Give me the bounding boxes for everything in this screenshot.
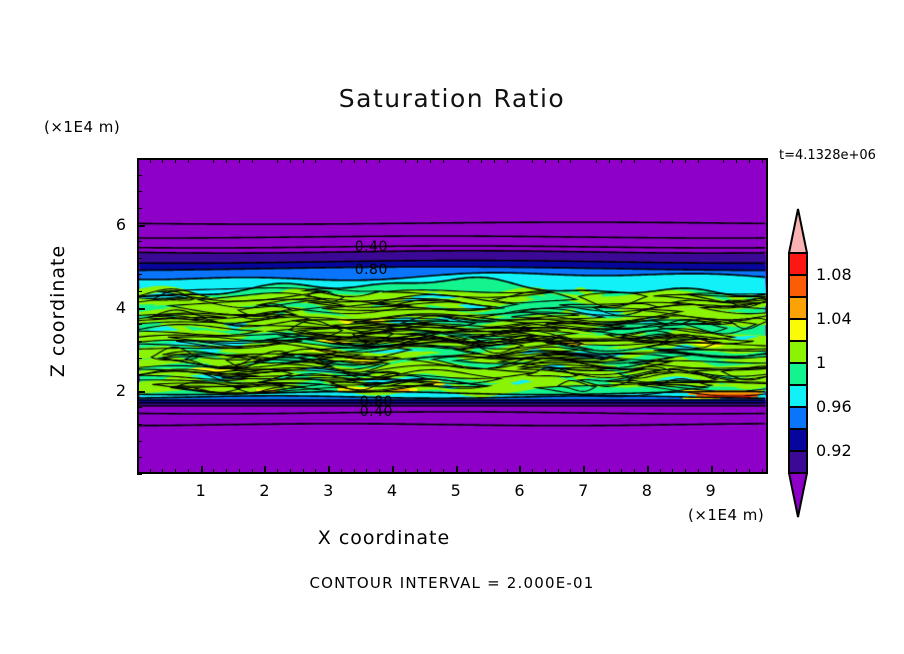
- colorbar-band: [789, 297, 807, 319]
- x-axis-minor-tick-top: [188, 158, 189, 163]
- x-axis-tick: [201, 466, 203, 474]
- x-axis-minor-tick: [685, 469, 686, 474]
- x-axis-minor-tick-top: [315, 158, 316, 163]
- x-axis-minor-tick-top: [213, 158, 214, 163]
- x-axis-tick-label: 7: [563, 481, 603, 500]
- colorbar-top-arrow: [789, 209, 807, 253]
- x-axis-minor-tick-top: [405, 158, 406, 163]
- x-axis-minor-tick-top: [366, 158, 367, 163]
- x-axis-minor-tick-top: [596, 158, 597, 163]
- x-axis-minor-tick: [634, 469, 635, 474]
- x-axis-minor-tick-top: [443, 158, 444, 163]
- x-axis-minor-tick: [341, 469, 342, 474]
- y-axis-minor-tick: [137, 374, 142, 375]
- x-axis-minor-tick-top: [736, 158, 737, 163]
- x-axis-minor-tick-top: [558, 158, 559, 163]
- x-axis-minor-tick: [481, 469, 482, 474]
- x-axis-minor-tick: [762, 469, 763, 474]
- x-axis-minor-tick: [723, 469, 724, 474]
- x-axis-minor-tick: [621, 469, 622, 474]
- x-axis-minor-tick-top: [162, 158, 163, 163]
- y-axis-minor-tick: [137, 424, 142, 425]
- y-axis-tick: [137, 308, 145, 310]
- y-axis-minor-tick: [137, 291, 142, 292]
- x-axis-minor-tick-top: [481, 158, 482, 163]
- time-annotation: t=4.1328e+06: [779, 148, 876, 163]
- x-axis-minor-tick: [405, 469, 406, 474]
- x-axis-tick-label: 5: [436, 481, 476, 500]
- x-axis-minor-tick: [507, 469, 508, 474]
- y-axis-tick-label: 2: [104, 381, 126, 400]
- colorbar-swatches: [788, 208, 808, 518]
- colorbar-band: [789, 363, 807, 385]
- y-axis-minor-tick: [137, 241, 142, 242]
- contour-line-label: 0.40: [355, 239, 388, 255]
- x-axis-minor-tick-top: [762, 158, 763, 163]
- x-axis-minor-tick-top: [545, 158, 546, 163]
- x-axis-minor-tick: [417, 469, 418, 474]
- x-axis-minor-tick: [698, 469, 699, 474]
- x-axis-minor-tick: [596, 469, 597, 474]
- y-axis-minor-tick: [137, 258, 142, 259]
- colorbar-band: [789, 407, 807, 429]
- x-axis-minor-tick: [252, 469, 253, 474]
- x-axis-tick: [519, 466, 521, 474]
- x-axis-minor-tick-top: [749, 158, 750, 163]
- x-axis-minor-tick-top: [634, 158, 635, 163]
- x-axis-minor-tick: [150, 469, 151, 474]
- x-axis-tick-label: 2: [244, 481, 284, 500]
- colorbar-bottom-arrow: [789, 473, 807, 517]
- y-axis-tick-label: 4: [104, 298, 126, 317]
- x-axis-tick: [711, 466, 713, 474]
- colorbar[interactable]: [788, 208, 808, 518]
- y-axis-minor-tick: [137, 191, 142, 192]
- y-axis-minor-tick: [137, 407, 142, 408]
- x-axis-tick-label: 6: [499, 481, 539, 500]
- y-axis-title: Z coordinate: [47, 201, 69, 421]
- x-axis-minor-tick: [188, 469, 189, 474]
- x-axis-minor-tick-top: [621, 158, 622, 163]
- x-axis-title: X coordinate: [0, 527, 768, 549]
- colorbar-tick-label: 0.92: [816, 441, 852, 460]
- x-axis-minor-tick-top: [468, 158, 469, 163]
- x-axis-minor-tick: [736, 469, 737, 474]
- x-axis-minor-tick-top: [723, 158, 724, 163]
- x-axis-minor-tick-top: [532, 158, 533, 163]
- x-axis-minor-tick: [558, 469, 559, 474]
- x-axis-tick-label: 8: [627, 481, 667, 500]
- x-axis-tick: [392, 466, 394, 474]
- y-axis-minor-tick: [137, 474, 142, 475]
- x-axis-tick-label: 9: [691, 481, 731, 500]
- x-axis-minor-tick-top: [672, 158, 673, 163]
- x-axis-minor-tick: [443, 469, 444, 474]
- x-axis-minor-tick: [277, 469, 278, 474]
- y-axis-minor-tick: [137, 341, 142, 342]
- x-axis-tick-label: 4: [372, 481, 412, 500]
- x-axis-minor-tick: [468, 469, 469, 474]
- x-axis-tick-label: 3: [308, 481, 348, 500]
- x-axis-minor-tick-top: [698, 158, 699, 163]
- x-axis-minor-tick: [494, 469, 495, 474]
- x-axis-minor-tick-top: [303, 158, 304, 163]
- colorbar-band: [789, 253, 807, 275]
- x-axis-minor-tick: [379, 469, 380, 474]
- x-axis-minor-tick-top: [685, 158, 686, 163]
- x-axis-minor-tick: [430, 469, 431, 474]
- y-axis-minor-tick: [137, 324, 142, 325]
- x-axis-minor-tick-top: [507, 158, 508, 163]
- x-axis-minor-tick-top: [430, 158, 431, 163]
- x-axis-minor-tick-top: [277, 158, 278, 163]
- contour-plot-area: [137, 158, 768, 474]
- x-axis-minor-tick: [672, 469, 673, 474]
- x-axis-minor-tick: [545, 469, 546, 474]
- colorbar-band: [789, 385, 807, 407]
- x-axis-minor-tick-top: [150, 158, 151, 163]
- y-axis-minor-tick: [137, 358, 142, 359]
- y-axis-minor-tick: [137, 208, 142, 209]
- colorbar-tick-label: 1: [816, 353, 826, 372]
- x-axis-minor-tick: [570, 469, 571, 474]
- x-axis-minor-tick: [354, 469, 355, 474]
- x-axis-tick: [264, 466, 266, 474]
- page-title: Saturation Ratio: [0, 84, 904, 113]
- contour-field: [139, 160, 766, 472]
- x-axis-minor-tick-top: [137, 158, 138, 163]
- x-axis-minor-tick: [660, 469, 661, 474]
- x-axis-minor-tick-top: [494, 158, 495, 163]
- x-axis-minor-tick-top: [417, 158, 418, 163]
- x-axis-unit-label: (×1E4 m): [688, 506, 764, 524]
- x-axis-minor-tick-top: [252, 158, 253, 163]
- x-axis-minor-tick: [175, 469, 176, 474]
- colorbar-band: [789, 429, 807, 451]
- x-axis-minor-tick-top: [226, 158, 227, 163]
- x-axis-minor-tick: [162, 469, 163, 474]
- y-axis-minor-tick: [137, 175, 142, 176]
- x-axis-minor-tick: [290, 469, 291, 474]
- y-axis-tick: [137, 225, 145, 227]
- y-axis-minor-tick: [137, 457, 142, 458]
- x-axis-tick: [456, 466, 458, 474]
- colorbar-band: [789, 275, 807, 297]
- contour-interval-caption: CONTOUR INTERVAL = 2.000E-01: [0, 574, 904, 592]
- colorbar-band: [789, 341, 807, 363]
- contour-line-label: 0.40: [360, 404, 393, 420]
- x-axis-minor-tick: [749, 469, 750, 474]
- y-axis-unit-label: (×1E4 m): [44, 118, 120, 136]
- x-axis-minor-tick: [226, 469, 227, 474]
- x-axis-minor-tick-top: [239, 158, 240, 163]
- y-axis-tick: [137, 391, 145, 393]
- x-axis-tick: [647, 466, 649, 474]
- x-axis-minor-tick-top: [341, 158, 342, 163]
- x-axis-minor-tick-top: [290, 158, 291, 163]
- x-axis-minor-tick-top: [354, 158, 355, 163]
- x-axis-minor-tick: [609, 469, 610, 474]
- contour-line-label: 0.80: [355, 262, 388, 278]
- colorbar-tick-label: 1.08: [816, 265, 852, 284]
- x-axis-minor-tick-top: [660, 158, 661, 163]
- x-axis-minor-tick: [303, 469, 304, 474]
- x-axis-minor-tick: [239, 469, 240, 474]
- x-axis-tick: [583, 466, 585, 474]
- x-axis-tick-label: 1: [181, 481, 221, 500]
- y-axis-tick-label: 6: [104, 215, 126, 234]
- x-axis-minor-tick-top: [609, 158, 610, 163]
- colorbar-tick-label: 0.96: [816, 397, 852, 416]
- x-axis-minor-tick: [213, 469, 214, 474]
- x-axis-minor-tick: [315, 469, 316, 474]
- colorbar-band: [789, 319, 807, 341]
- x-axis-minor-tick: [532, 469, 533, 474]
- x-axis-minor-tick: [366, 469, 367, 474]
- x-axis-minor-tick-top: [175, 158, 176, 163]
- colorbar-band: [789, 451, 807, 473]
- colorbar-tick-label: 1.04: [816, 309, 852, 328]
- x-axis-tick: [328, 466, 330, 474]
- x-axis-minor-tick-top: [570, 158, 571, 163]
- y-axis-minor-tick: [137, 274, 142, 275]
- y-axis-minor-tick: [137, 441, 142, 442]
- x-axis-minor-tick-top: [379, 158, 380, 163]
